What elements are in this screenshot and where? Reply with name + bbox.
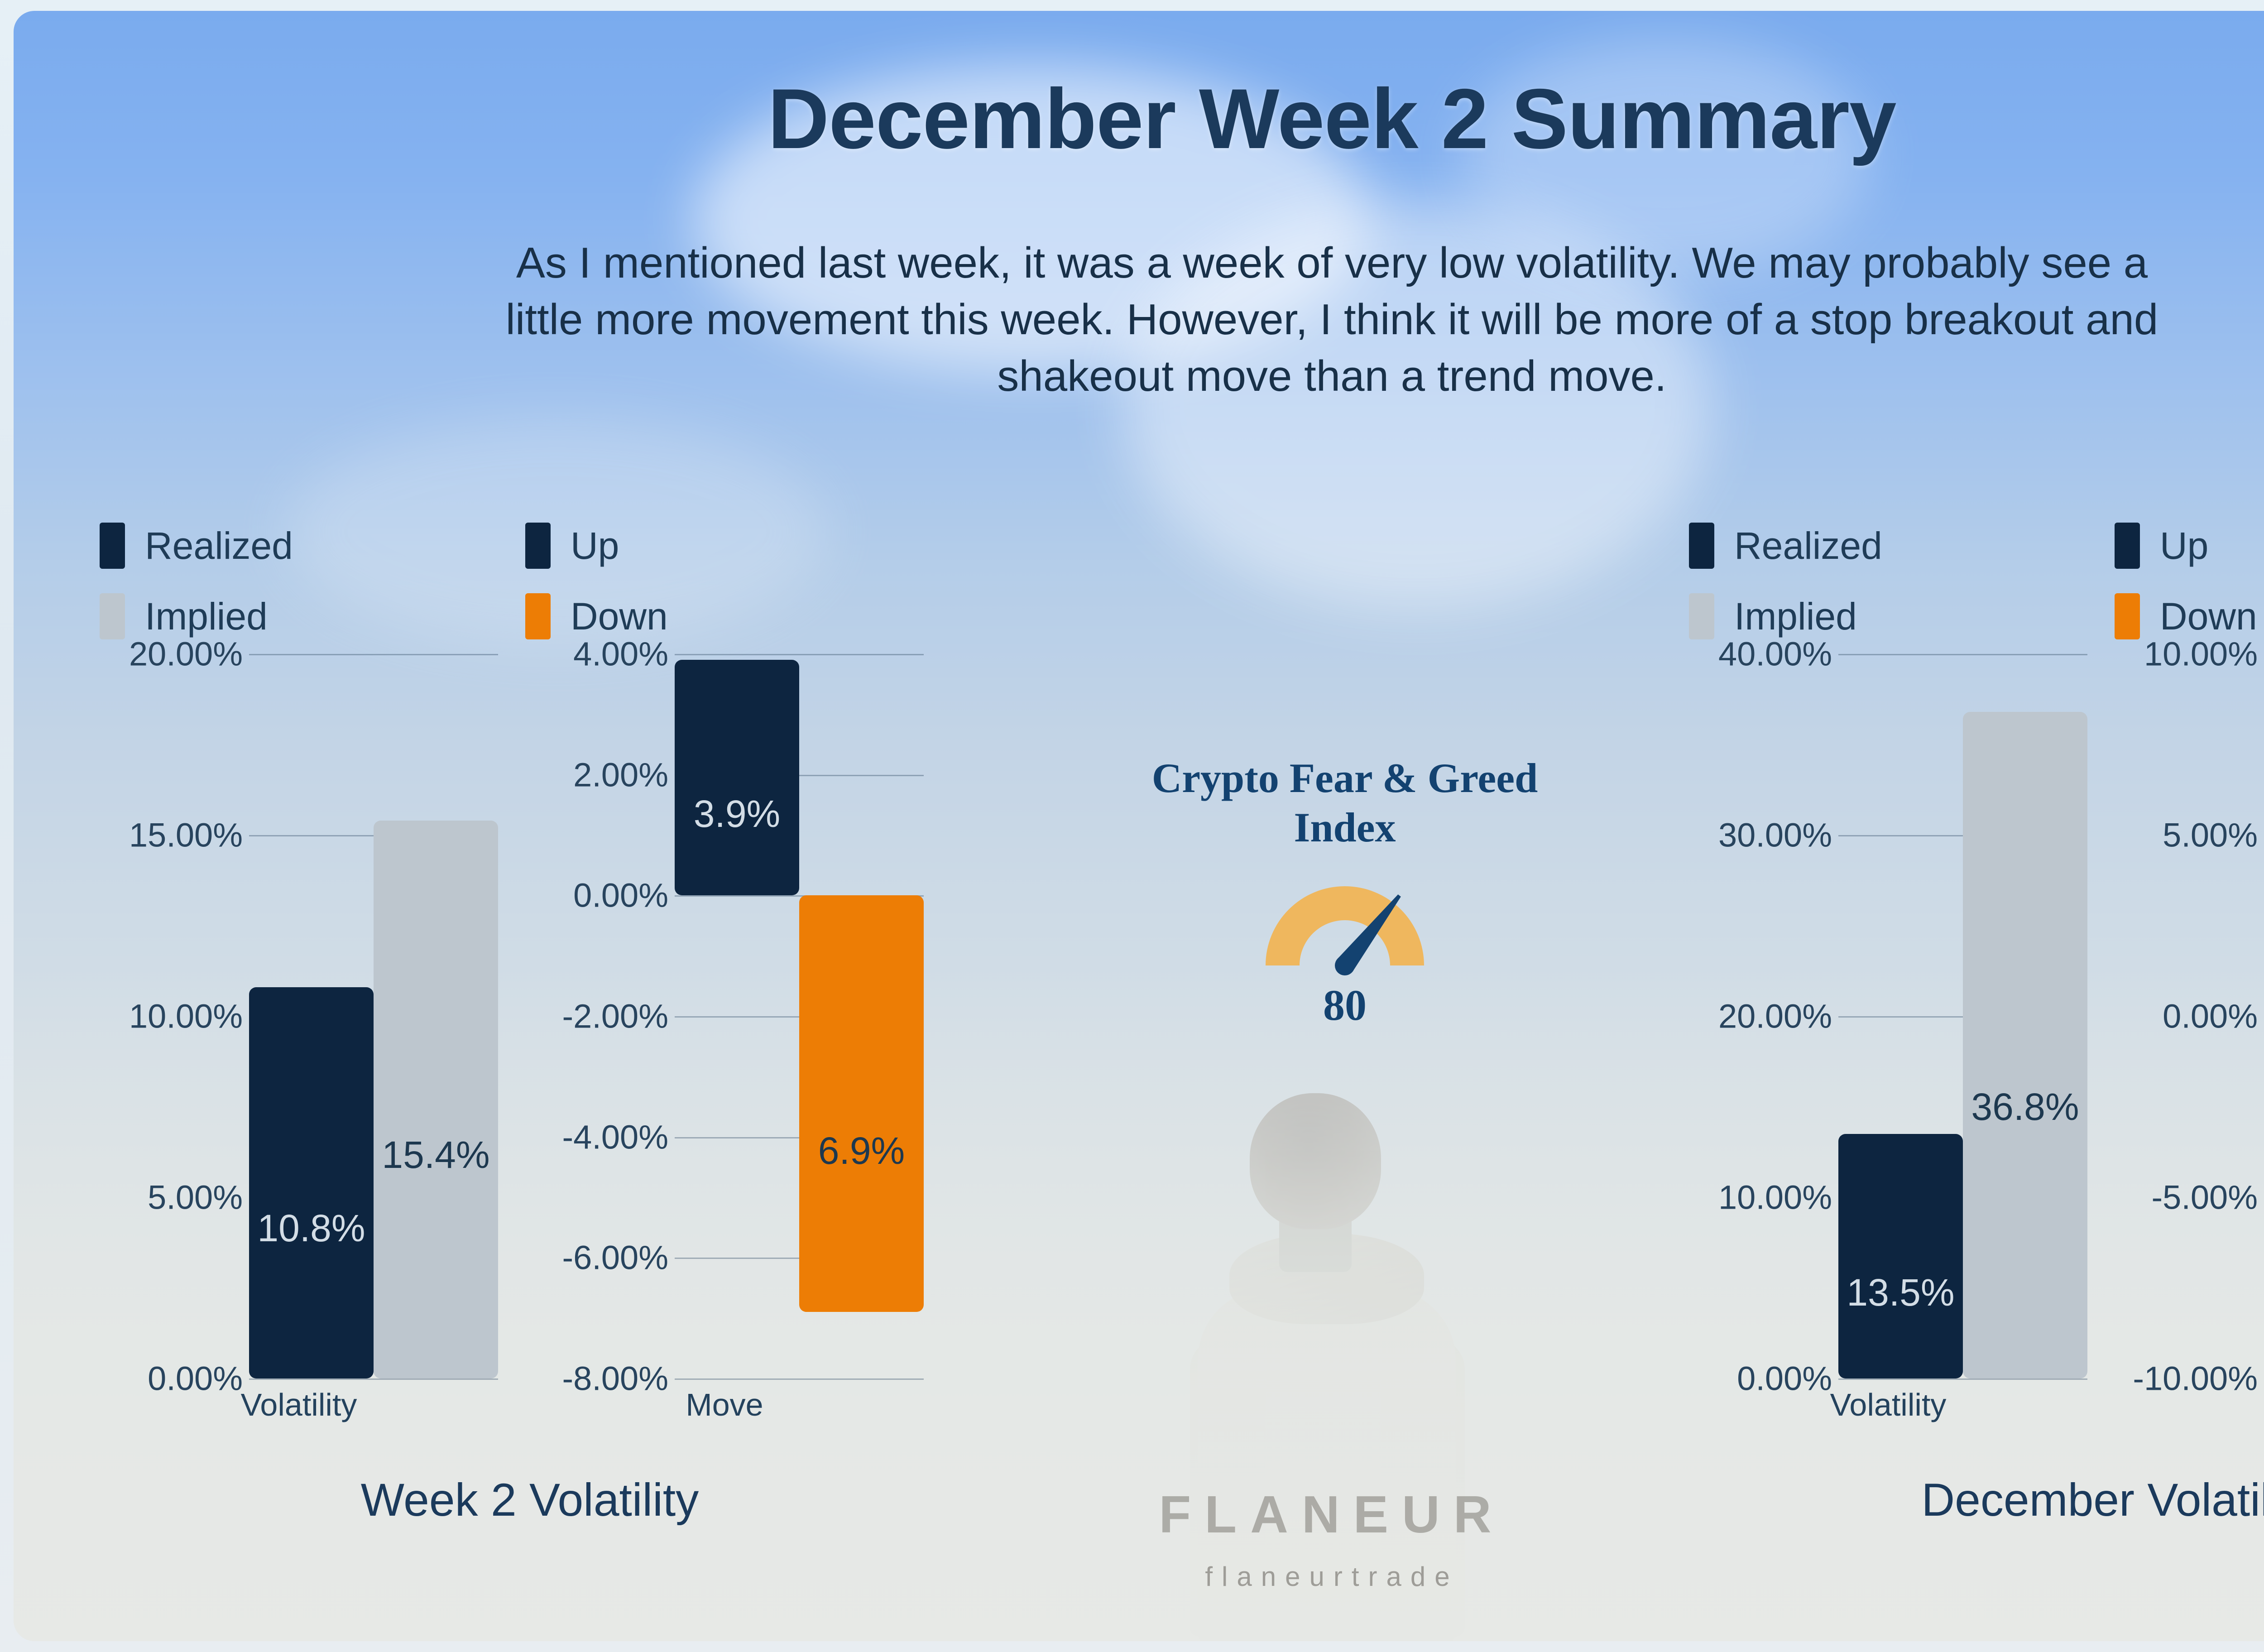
legend-item-up[interactable]: Up — [2115, 523, 2257, 569]
x-axis-label: Move — [525, 1387, 924, 1423]
legend-swatch-implied-icon — [100, 593, 125, 639]
page-title: December Week 2 Summary — [14, 70, 2264, 168]
legend-swatch-implied-icon — [1689, 593, 1714, 639]
legend-label-down: Down — [2160, 595, 2257, 639]
chart-legend: RealizedImpliedUpDown — [100, 523, 960, 654]
chart-legend: RealizedImpliedUpDown — [1689, 523, 2264, 654]
y-tick-label: 5.00% — [148, 1178, 243, 1217]
y-tick-label: -5.00% — [2152, 1178, 2258, 1217]
bar-implied[interactable]: 15.4% — [374, 821, 498, 1378]
legend-label-implied: Implied — [1734, 595, 1857, 639]
y-tick-label: 30.00% — [1718, 816, 1832, 855]
slide-panel: December Week 2 Summary As I mentioned l… — [14, 11, 2264, 1641]
bar-value-label: 3.9% — [675, 792, 799, 836]
plot-area: 3.9%6.9% — [675, 654, 924, 1378]
legend-swatch-realized-icon — [100, 523, 125, 569]
gauge-title-line2: Index — [1109, 803, 1580, 852]
chart-volatility: 0.00%10.00%20.00%30.00%40.00%13.5%36.8%V… — [1689, 654, 2087, 1433]
y-tick-label: 20.00% — [1718, 997, 1832, 1036]
legend-label-down: Down — [571, 595, 668, 639]
gauge-value: 80 — [1109, 980, 1580, 1030]
legend-item-realized[interactable]: Realized — [100, 523, 293, 569]
bar-value-label: 10.8% — [249, 1206, 374, 1250]
legend-item-down[interactable]: Down — [2115, 593, 2257, 639]
fear-greed-gauge: Crypto Fear & Greed Index 80 — [1109, 754, 1580, 1030]
chart-volatility: 0.00%5.00%10.00%15.00%20.00%10.8%15.4%Vo… — [100, 654, 498, 1433]
gridline — [249, 1378, 498, 1380]
plot-area: 13.5%36.8% — [1838, 654, 2087, 1378]
chart-move: -8.00%-6.00%-4.00%-2.00%0.00%2.00%4.00%3… — [525, 654, 924, 1433]
page-subtitle: As I mentioned last week, it was a week … — [483, 235, 2181, 404]
bar-realized[interactable]: 10.8% — [249, 987, 374, 1378]
legend-swatch-down-icon — [525, 593, 551, 639]
legend-item-implied[interactable]: Implied — [1689, 593, 1882, 639]
gauge-dial-icon — [1250, 864, 1440, 977]
legend-swatch-up-icon — [2115, 523, 2140, 569]
y-tick-label: 0.00% — [2163, 997, 2258, 1036]
y-tick-label: 5.00% — [2163, 816, 2258, 855]
y-tick-label: 2.00% — [573, 755, 668, 794]
legend-item-implied[interactable]: Implied — [100, 593, 293, 639]
y-tick-label: -4.00% — [562, 1118, 668, 1156]
legend-swatch-down-icon — [2115, 593, 2140, 639]
y-tick-label: 10.00% — [1718, 1178, 1832, 1217]
gridline — [1838, 654, 2087, 655]
slide-frame: December Week 2 Summary As I mentioned l… — [0, 0, 2264, 1652]
brand-watermark: FLANEUR flaneurtrade — [14, 1484, 2264, 1592]
y-tick-label: 10.00% — [2144, 635, 2258, 673]
x-axis-label: Move — [2115, 1387, 2264, 1423]
legend-item-up[interactable]: Up — [525, 523, 668, 569]
bar-value-label: 13.5% — [1838, 1271, 1963, 1315]
legend-item-down[interactable]: Down — [525, 593, 668, 639]
gridline — [1838, 1378, 2087, 1380]
y-tick-label: 15.00% — [129, 816, 243, 855]
y-tick-label: 10.00% — [129, 997, 243, 1036]
legend-swatch-realized-icon — [1689, 523, 1714, 569]
bar-implied[interactable]: 36.8% — [1963, 712, 2087, 1378]
bar-value-label: 15.4% — [374, 1133, 498, 1177]
bar-value-label: 6.9% — [799, 1129, 924, 1173]
legend-item-realized[interactable]: Realized — [1689, 523, 1882, 569]
watermark-handle: flaneurtrade — [14, 1561, 2264, 1592]
chart-move: -10.00%-5.00%0.00%5.00%10.00%9%4.5%Move — [2115, 654, 2264, 1433]
y-tick-label: 4.00% — [573, 635, 668, 673]
legend-swatch-up-icon — [525, 523, 551, 569]
y-tick-label: 20.00% — [129, 635, 243, 673]
gridline — [675, 1378, 924, 1380]
y-tick-label: 0.00% — [573, 876, 668, 915]
gridline — [249, 654, 498, 655]
x-axis-label: Volatility — [1689, 1387, 2087, 1423]
bar-value-label: 36.8% — [1963, 1085, 2087, 1129]
watermark-brand: FLANEUR — [14, 1484, 2264, 1545]
bar-up[interactable]: 3.9% — [675, 660, 799, 895]
legend-label-realized: Realized — [1734, 524, 1882, 568]
y-axis-labels: 0.00%10.00%20.00%30.00%40.00% — [1689, 654, 1838, 1378]
gridline — [675, 654, 924, 655]
y-tick-label: 40.00% — [1718, 635, 1832, 673]
bar-realized[interactable]: 13.5% — [1838, 1134, 1963, 1378]
x-axis-label: Volatility — [100, 1387, 498, 1423]
gauge-title-line1: Crypto Fear & Greed — [1109, 754, 1580, 803]
legend-label-up: Up — [571, 524, 619, 568]
y-axis-labels: 0.00%5.00%10.00%15.00%20.00% — [100, 654, 249, 1378]
plot-area: 10.8%15.4% — [249, 654, 498, 1378]
y-tick-label: -6.00% — [562, 1239, 668, 1277]
y-axis-labels: -10.00%-5.00%0.00%5.00%10.00% — [2115, 654, 2264, 1378]
legend-label-up: Up — [2160, 524, 2208, 568]
bar-down[interactable]: 6.9% — [799, 895, 924, 1312]
legend-label-implied: Implied — [145, 595, 268, 639]
y-axis-labels: -8.00%-6.00%-4.00%-2.00%0.00%2.00%4.00% — [525, 654, 675, 1378]
y-tick-label: -2.00% — [562, 997, 668, 1036]
legend-label-realized: Realized — [145, 524, 293, 568]
